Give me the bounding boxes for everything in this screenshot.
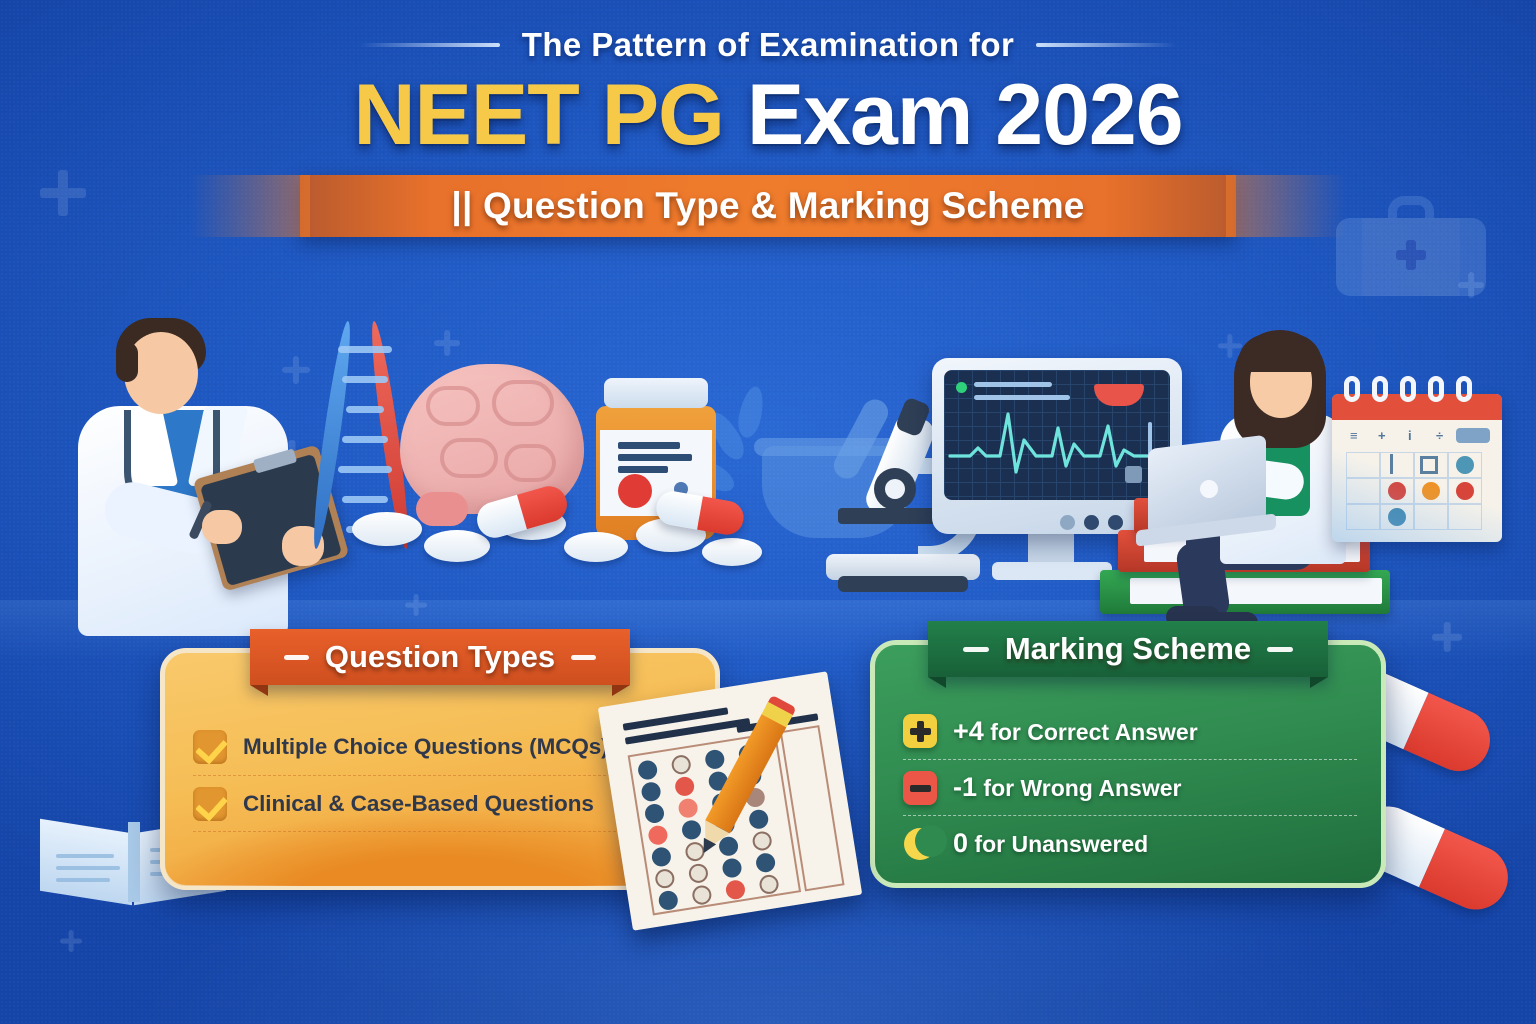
page-title-highlight: NEET PG <box>353 67 724 163</box>
tagline: The Pattern of Examination for <box>522 26 1014 64</box>
laptop-logo <box>1200 480 1218 498</box>
subtitle-banner: || Question Type & Marking Scheme <box>300 175 1236 237</box>
tablet-pill <box>564 532 628 562</box>
monitor-stand <box>1028 530 1074 564</box>
tablet-pill <box>702 538 762 566</box>
brain-fold <box>426 386 480 426</box>
ribbon-dash-left <box>963 647 989 652</box>
tagline-rule-right <box>1036 43 1176 47</box>
infographic-canvas: The Pattern of Examination for NEET PG E… <box>0 0 1536 1024</box>
dna-rung <box>346 406 384 413</box>
marking-rule: -1 for Wrong Answer <box>953 772 1181 803</box>
microscope-knob <box>874 468 916 510</box>
omr-answer-sheet <box>598 671 862 931</box>
tagline-rule-left <box>360 43 500 47</box>
book-text-line <box>56 878 110 882</box>
marking-label: for Wrong Answer <box>983 775 1181 801</box>
dna-rung <box>342 376 388 383</box>
tagline-row: The Pattern of Examination for <box>0 26 1536 64</box>
laptop <box>1148 442 1288 542</box>
monitor-button[interactable] <box>1084 515 1099 530</box>
marking-label: for Unanswered <box>974 831 1148 857</box>
book-text-line <box>56 866 120 870</box>
ribbon-dash-left <box>284 655 309 660</box>
check-icon <box>193 730 227 764</box>
book-text-line <box>56 854 114 858</box>
capsule-half-white <box>654 489 703 530</box>
check-icon <box>193 787 227 821</box>
dna-rung <box>338 346 392 353</box>
page-title-rest: Exam 2026 <box>747 67 1183 163</box>
doctor-hand-left <box>202 510 242 544</box>
brain-stem <box>416 492 468 526</box>
label-line <box>618 442 680 449</box>
header: The Pattern of Examination for NEET PG E… <box>0 26 1536 237</box>
marking-scheme-panel: Marking Scheme +4 for Correct Answer -1 … <box>870 640 1386 888</box>
plus-decoration-icon <box>60 930 82 952</box>
marking-value: -1 <box>953 772 977 802</box>
list-item[interactable]: +4 for Correct Answer <box>903 703 1357 759</box>
brain-fold <box>504 444 556 482</box>
dna-rung <box>338 466 392 473</box>
crescent-moon-icon <box>903 827 937 861</box>
calendar-shade <box>1332 394 1502 542</box>
marking-label: for Correct Answer <box>990 719 1197 745</box>
marking-rule: 0 for Unanswered <box>953 828 1148 859</box>
monitor-screen <box>944 370 1170 500</box>
dna-rung <box>342 496 388 503</box>
bottle-cap <box>604 378 708 408</box>
marking-value: +4 <box>953 716 984 746</box>
wall-calendar: ≡ + i ÷ <box>1332 376 1502 556</box>
list-item[interactable]: -1 for Wrong Answer <box>903 759 1357 815</box>
plus-badge-icon <box>903 714 937 748</box>
label-red-dot <box>618 474 652 508</box>
marking-scheme-list: +4 for Correct Answer -1 for Wrong Answe… <box>903 703 1357 871</box>
label-line <box>618 454 692 461</box>
screen-marker-square <box>1125 466 1142 483</box>
list-item[interactable]: 0 for Unanswered <box>903 815 1357 871</box>
marking-value: 0 <box>953 828 968 858</box>
doctor-sideburn <box>116 342 138 382</box>
label-line <box>618 466 668 473</box>
ribbon-dash-right <box>1267 647 1293 652</box>
page-title: NEET PG Exam 2026 <box>0 70 1536 161</box>
subtitle-text: || Question Type & Marking Scheme <box>451 185 1084 227</box>
marking-scheme-heading-ribbon: Marking Scheme <box>928 621 1328 677</box>
minus-badge-icon <box>903 771 937 805</box>
tablet-pill <box>352 512 422 546</box>
question-type-label: Multiple Choice Questions (MCQs) <box>243 734 609 760</box>
marking-rule: +4 for Correct Answer <box>953 716 1198 747</box>
question-type-label: Clinical & Case-Based Questions <box>243 791 594 817</box>
doctor-hair-front <box>1238 334 1322 372</box>
capsule-half-red <box>697 496 746 537</box>
ribbon-dash-right <box>571 655 596 660</box>
book-spine <box>128 822 140 902</box>
dna-rung <box>342 436 388 443</box>
book-page-left <box>40 819 132 906</box>
monitor-button[interactable] <box>1060 515 1075 530</box>
question-types-heading-ribbon: Question Types <box>250 629 630 685</box>
brain-fold <box>440 438 498 478</box>
brain-fold <box>492 380 554 426</box>
subtitle-wrap: || Question Type & Marking Scheme <box>0 175 1536 237</box>
male-doctor-with-clipboard <box>78 314 346 644</box>
list-divider <box>193 831 691 832</box>
question-types-heading: Question Types <box>325 639 555 675</box>
monitor-foot <box>992 562 1112 580</box>
marking-scheme-heading: Marking Scheme <box>1005 631 1251 667</box>
